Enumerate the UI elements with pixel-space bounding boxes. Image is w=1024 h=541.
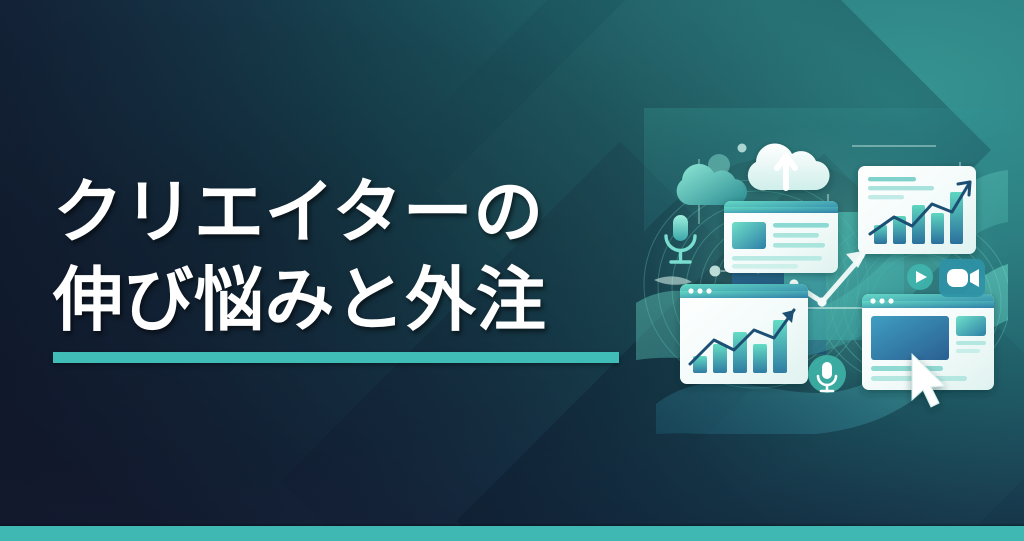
hero-illustration — [636, 104, 1008, 434]
analytics-card — [858, 166, 976, 254]
bottom-accent-bar — [0, 526, 1024, 541]
page-title-line-2: 伸び悩みと外注 — [53, 256, 653, 344]
microphone-badge-icon — [808, 355, 846, 393]
play-button-icon — [907, 264, 933, 290]
bubble-small — [738, 144, 747, 153]
title-underline-accent — [53, 352, 619, 363]
video-thumbnail — [956, 316, 986, 336]
article-card — [724, 201, 838, 273]
video-camera-icon — [939, 259, 985, 297]
blog-header-banner: クリエイターの 伸び悩みと外注 — [0, 0, 1024, 541]
headline-block: クリエイターの 伸び悩みと外注 — [53, 168, 653, 363]
browser-chart-window — [680, 284, 808, 384]
video-preview-area — [871, 316, 949, 360]
page-title-line-1: クリエイターの — [53, 168, 653, 256]
